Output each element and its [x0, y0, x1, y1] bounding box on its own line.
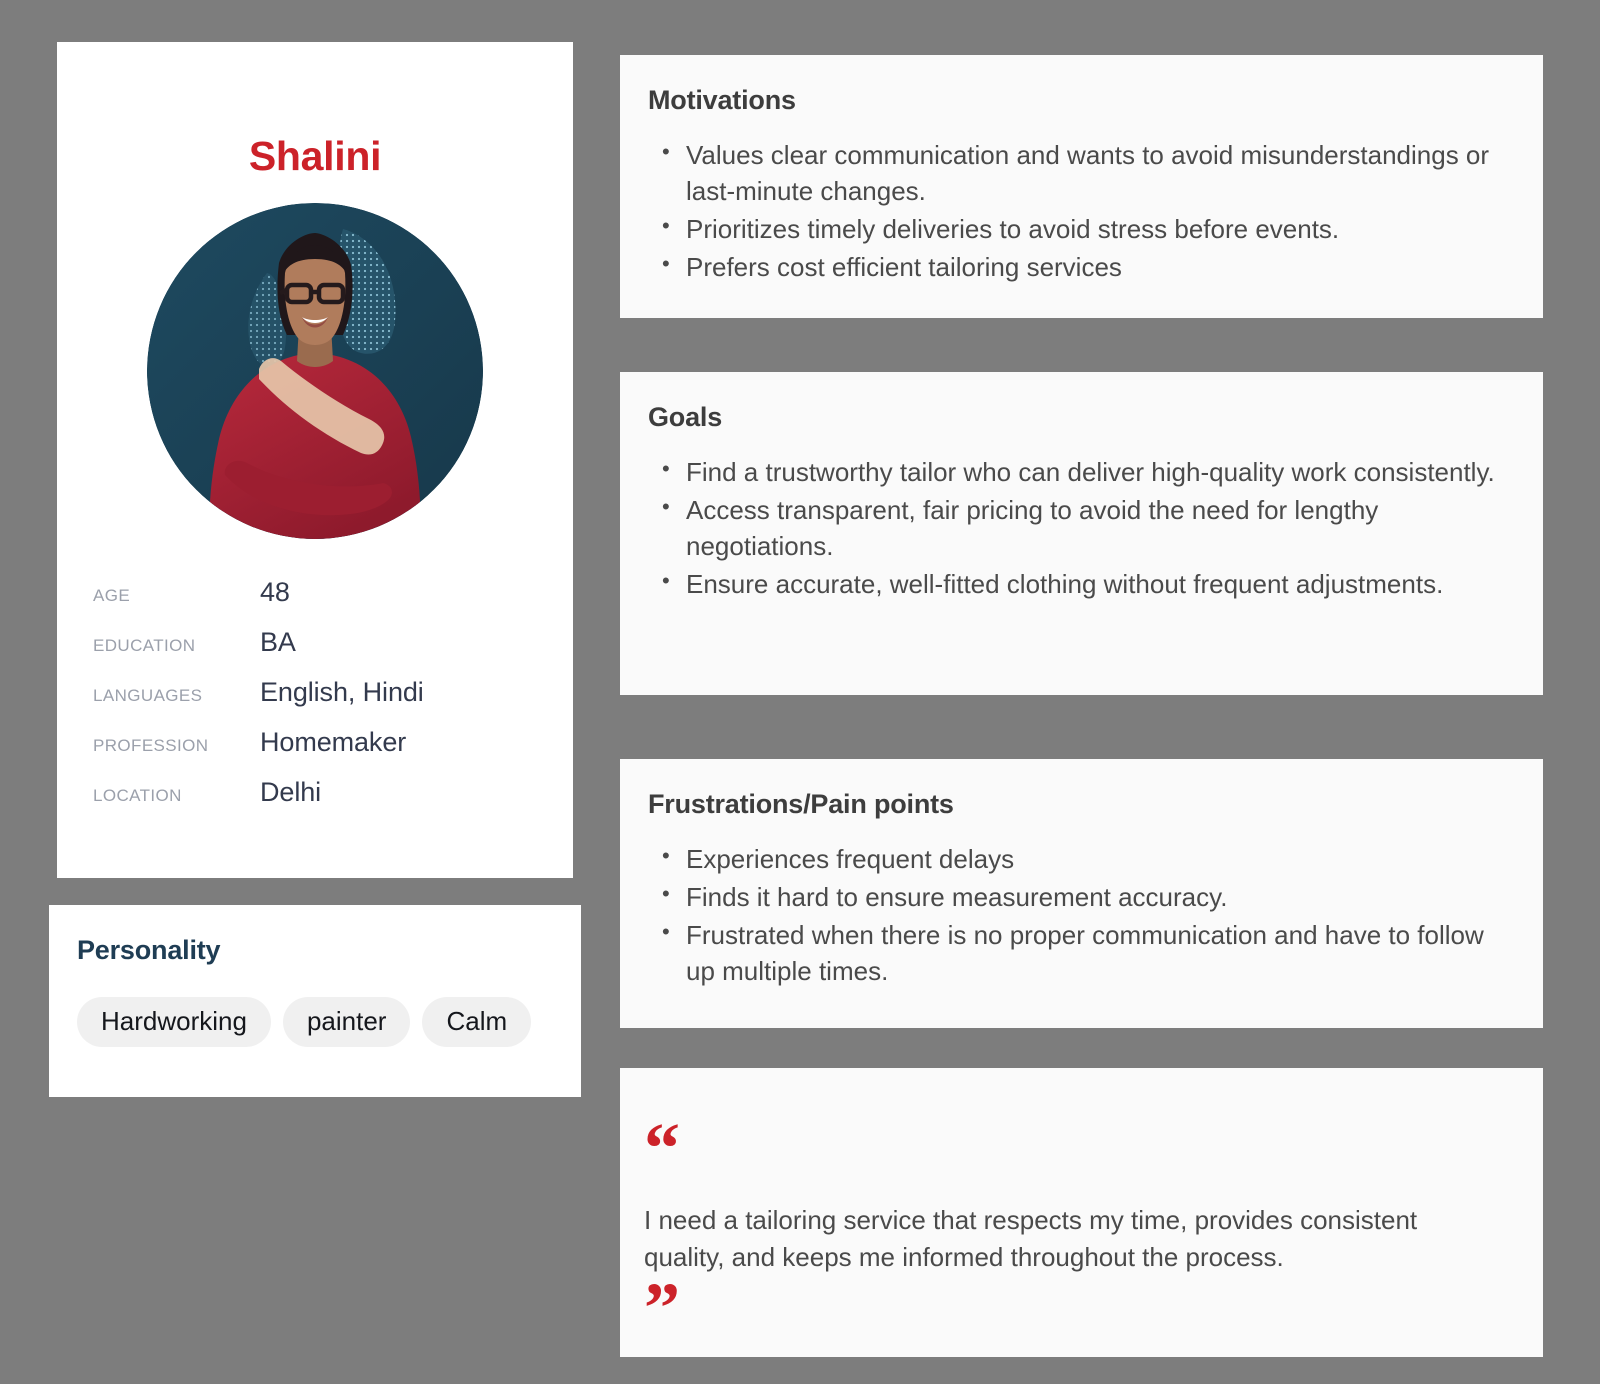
- list-item: Prioritizes timely deliveries to avoid s…: [648, 212, 1503, 248]
- list-item: Experiences frequent delays: [648, 842, 1503, 878]
- detail-row-profession: PROFESSION Homemaker: [93, 727, 573, 777]
- detail-value: English, Hindi: [260, 677, 424, 708]
- personality-tag: painter: [283, 997, 411, 1047]
- detail-label: AGE: [93, 586, 260, 606]
- detail-label: LANGUAGES: [93, 686, 260, 706]
- list-item: Access transparent, fair pricing to avoi…: [648, 493, 1503, 565]
- detail-label: EDUCATION: [93, 636, 260, 656]
- detail-row-location: LOCATION Delhi: [93, 777, 573, 827]
- detail-row-education: EDUCATION BA: [93, 627, 573, 677]
- quote-card: “ I need a tailoring service that respec…: [620, 1068, 1543, 1357]
- list-item: Prefers cost efficient tailoring service…: [648, 250, 1503, 286]
- goals-title: Goals: [648, 402, 1503, 433]
- motivations-card: Motivations Values clear communication a…: [620, 55, 1543, 318]
- list-item: Finds it hard to ensure measurement accu…: [648, 880, 1503, 916]
- quote-open-icon: “: [644, 1130, 1503, 1170]
- list-item: Values clear communication and wants to …: [648, 138, 1503, 210]
- personality-title: Personality: [77, 935, 581, 966]
- detail-label: LOCATION: [93, 786, 260, 806]
- list-item: Frustrated when there is no proper commu…: [648, 918, 1503, 990]
- list-item: Ensure accurate, well-fitted clothing wi…: [648, 567, 1503, 603]
- quote-close-icon: ”: [644, 1290, 1503, 1330]
- personality-tag: Hardworking: [77, 997, 271, 1047]
- frustrations-list: Experiences frequent delays Finds it har…: [648, 842, 1503, 990]
- list-item: Find a trustworthy tailor who can delive…: [648, 455, 1503, 491]
- motivations-title: Motivations: [648, 85, 1503, 116]
- user-portrait-photo: [147, 203, 483, 539]
- avatar: [147, 203, 483, 539]
- detail-value: BA: [260, 627, 296, 658]
- detail-row-languages: LANGUAGES English, Hindi: [93, 677, 573, 727]
- personality-card: Personality Hardworking painter Calm: [49, 905, 581, 1097]
- profile-details-table: AGE 48 EDUCATION BA LANGUAGES English, H…: [57, 577, 573, 827]
- detail-value: 48: [260, 577, 290, 608]
- profile-card: Shalini: [57, 42, 573, 878]
- goals-list: Find a trustworthy tailor who can delive…: [648, 455, 1503, 603]
- goals-card: Goals Find a trustworthy tailor who can …: [620, 372, 1543, 695]
- personality-tag-list: Hardworking painter Calm: [77, 997, 581, 1047]
- detail-value: Homemaker: [260, 727, 406, 758]
- detail-value: Delhi: [260, 777, 321, 808]
- detail-row-age: AGE 48: [93, 577, 573, 627]
- motivations-list: Values clear communication and wants to …: [648, 138, 1503, 286]
- personality-tag: Calm: [422, 997, 531, 1047]
- frustrations-card: Frustrations/Pain points Experiences fre…: [620, 759, 1543, 1028]
- page-title: Shalini: [57, 42, 573, 180]
- quote-text: I need a tailoring service that respects…: [644, 1202, 1503, 1276]
- persona-page: Shalini: [0, 0, 1600, 1384]
- frustrations-title: Frustrations/Pain points: [648, 789, 1503, 820]
- detail-label: PROFESSION: [93, 736, 260, 756]
